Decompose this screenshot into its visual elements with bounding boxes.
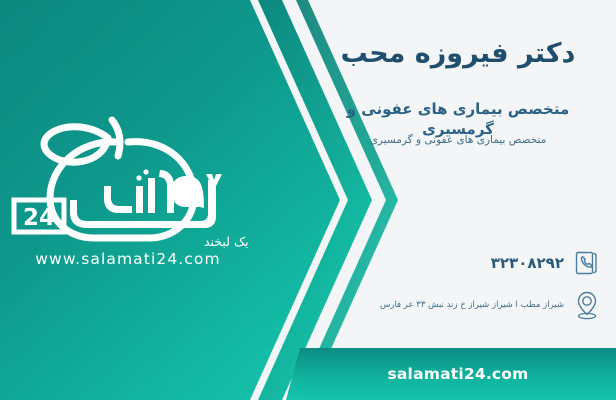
phone-number: ۳۲۳۰۸۲۹۲ <box>491 254 572 272</box>
logo-website-url: www.salamati24.com <box>8 250 248 268</box>
footer-bar[interactable]: salamati24.com <box>300 348 616 400</box>
footer-website: salamati24.com <box>387 365 528 383</box>
address-contact-row[interactable]: شیراز مطب ا شیراز شیراز خ زند نبش ۳۳ عر … <box>380 288 602 322</box>
doctor-profile-card: 24 به راحتی یک لبخند www.salamati24.com … <box>0 0 616 400</box>
doctor-name: دکتر فیروزه محب <box>316 38 600 70</box>
svg-text:24: 24 <box>23 205 55 231</box>
phone-book-icon <box>572 246 602 280</box>
apple-logo-icon: 24 به راحتی یک لبخند <box>8 112 248 252</box>
location-pin-icon <box>572 288 602 322</box>
address-text: شیراز مطب ا شیراز شیراز خ زند نبش ۳۳ عر … <box>380 300 572 310</box>
specialty-sub: متخصص بیماری های عفونی و گرمسیری <box>316 134 600 148</box>
brand-logo: 24 به راحتی یک لبخند www.salamati24.com <box>8 112 248 282</box>
profile-content: دکتر فیروزه محب متخصص بیماری های عفونی و… <box>300 0 616 400</box>
phone-contact-row[interactable]: ۳۲۳۰۸۲۹۲ <box>491 246 602 280</box>
logo-tagline: به راحتی یک لبخند <box>204 234 248 250</box>
